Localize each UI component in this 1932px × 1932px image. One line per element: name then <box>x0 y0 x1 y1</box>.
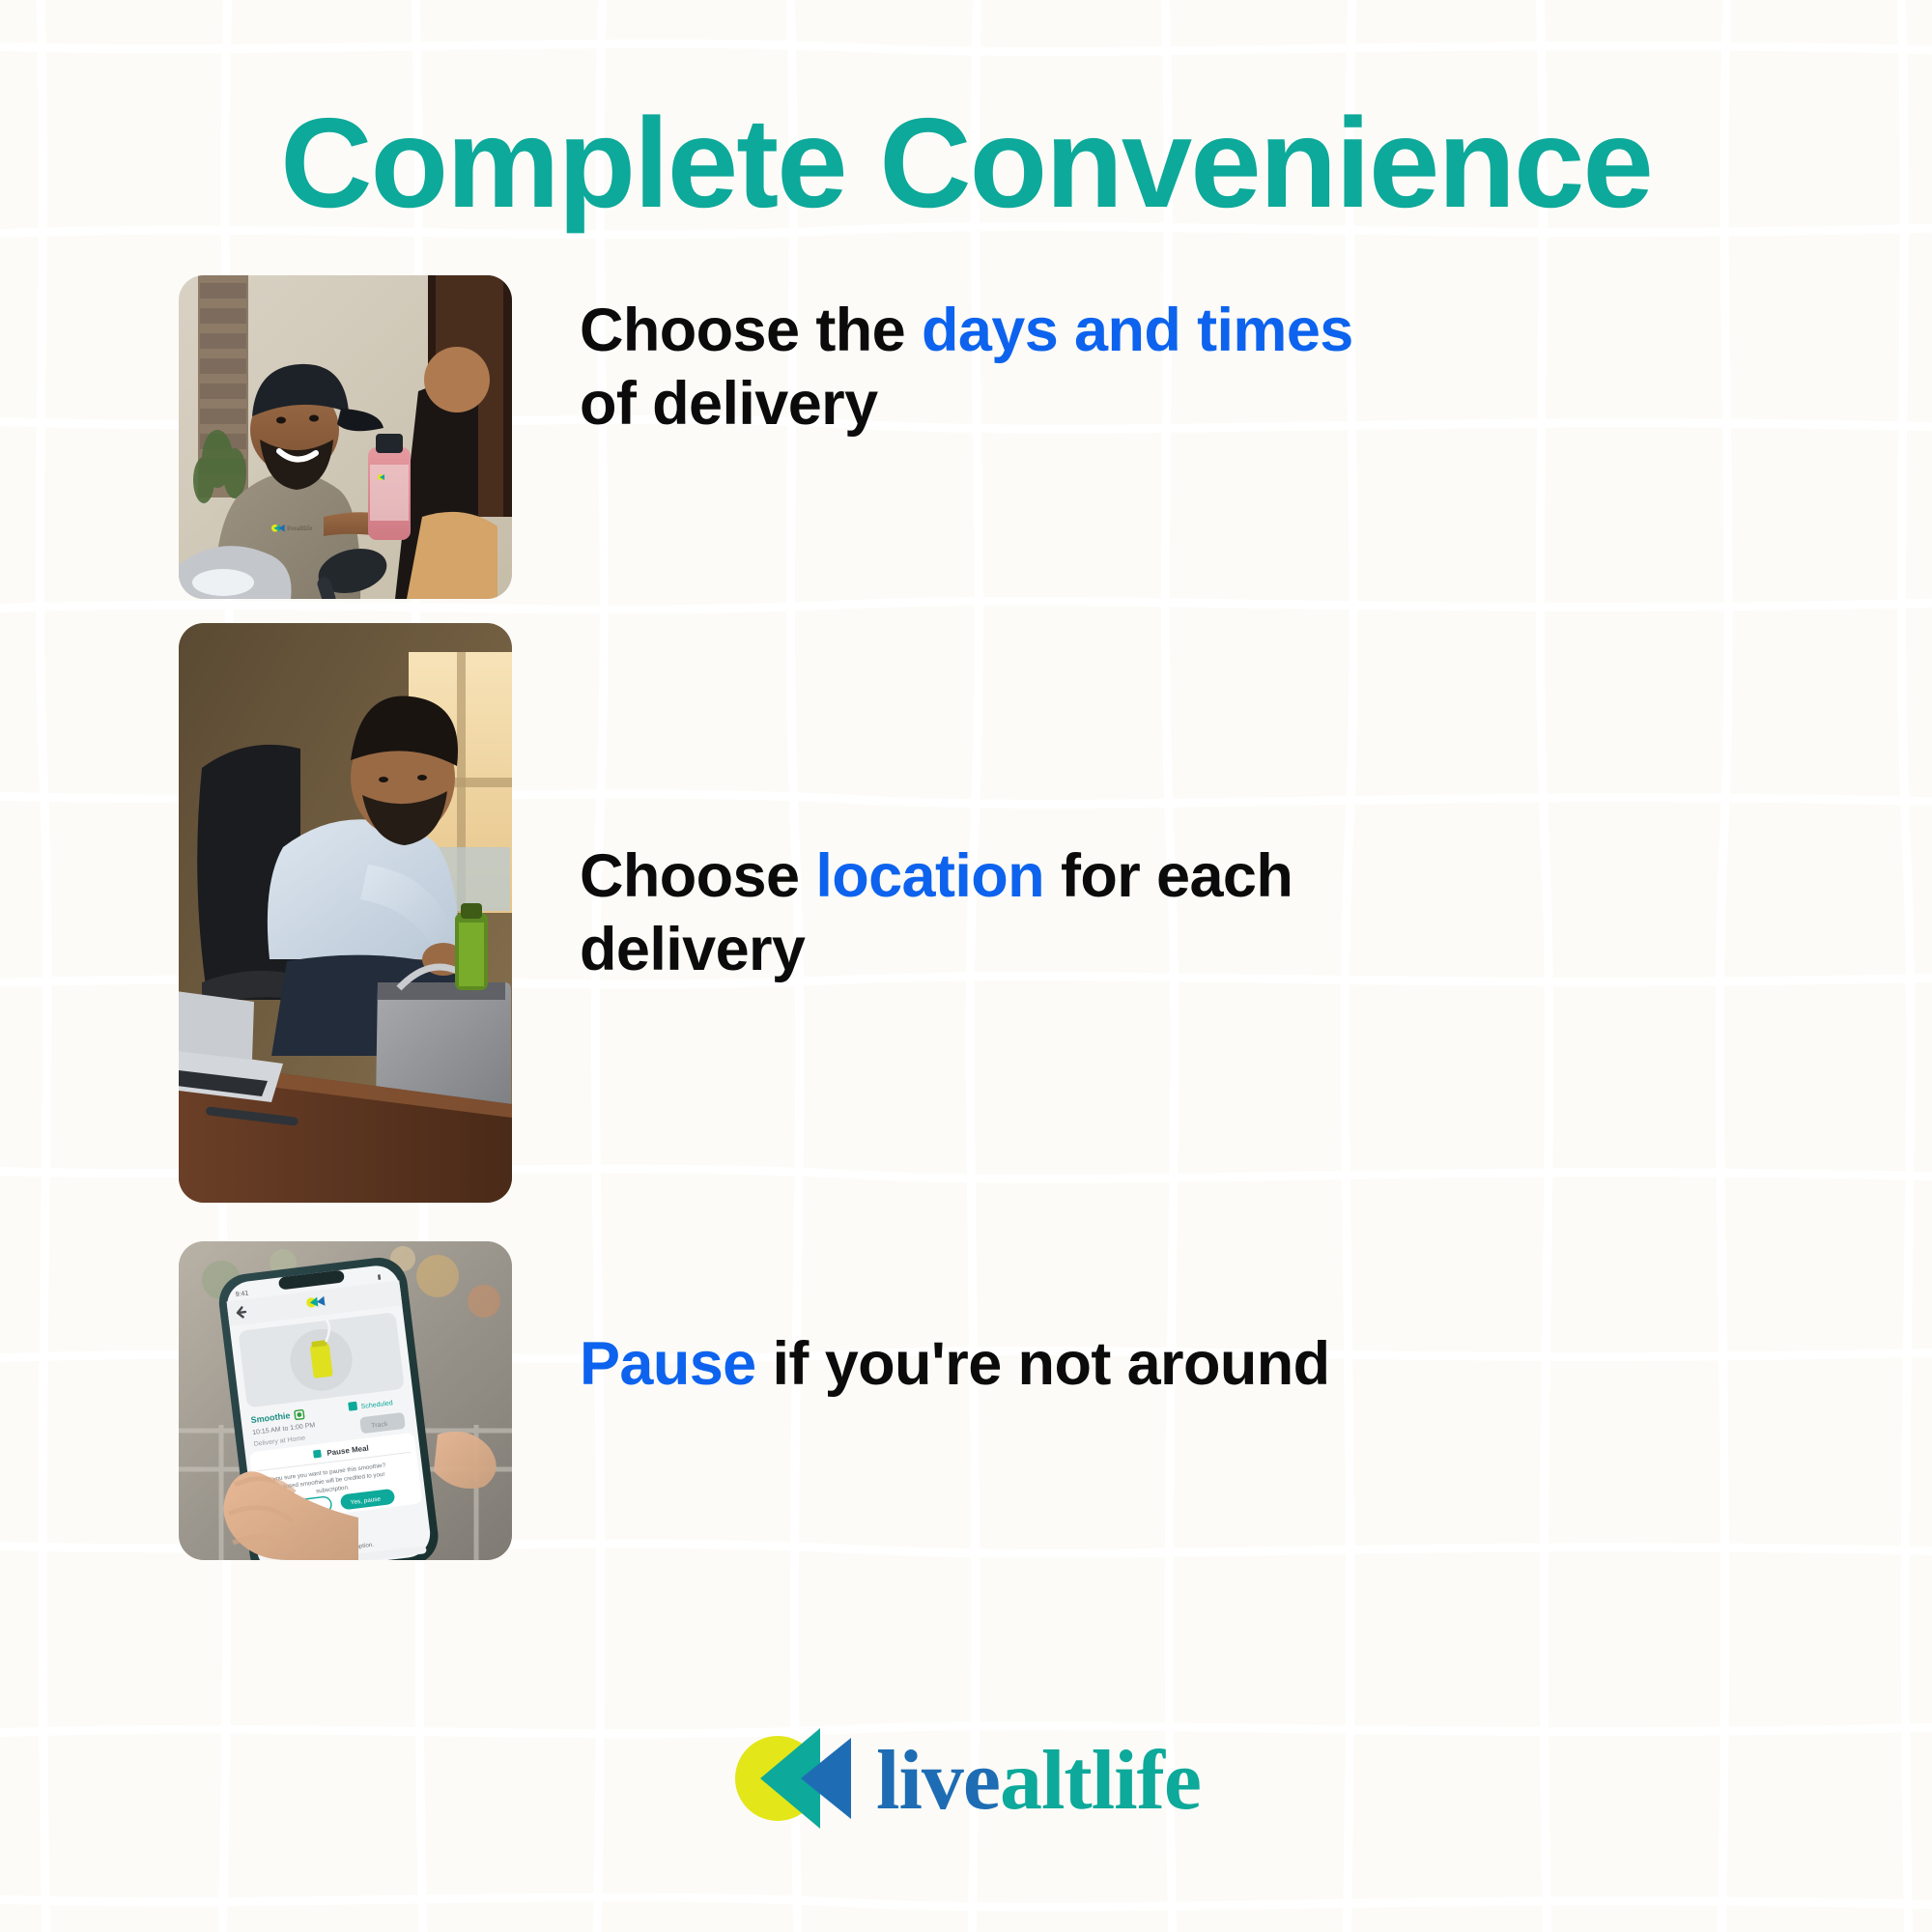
step-row-pause: 9:41 ▮ Sm <box>0 1241 1932 1560</box>
caption-part: if you're not around <box>756 1330 1330 1398</box>
step-caption-pause: Pause if you're not around <box>580 1328 1362 1402</box>
caption-part: Choose <box>580 842 815 910</box>
brand-word-altlife: altlife <box>1000 1734 1201 1828</box>
office-desk-photo <box>179 623 512 1203</box>
caption-part: Choose the <box>580 297 922 364</box>
brand-lockup: livealtlife <box>0 1724 1932 1838</box>
step-row-days-and-times: livealtlife Choose the days <box>0 275 1932 599</box>
delivery-handoff-photo: livealtlife <box>179 275 512 599</box>
caption-highlight: Pause <box>580 1330 756 1398</box>
phone-in-hand-photo: 9:41 ▮ Sm <box>179 1241 512 1560</box>
poster-canvas: Complete Convenience <box>0 0 1932 1932</box>
caption-highlight: location <box>815 842 1044 910</box>
svg-text:livealtlife: livealtlife <box>287 526 312 532</box>
page-title: Complete Convenience <box>0 93 1932 233</box>
step-row-location: Choose location for each delivery <box>0 623 1932 1203</box>
caption-highlight: days and times <box>922 297 1353 364</box>
caption-part: of delivery <box>580 370 878 438</box>
livealtlife-logo-mark <box>731 1724 855 1838</box>
step-caption-days-and-times: Choose the days and times of delivery <box>580 295 1362 440</box>
brand-wordmark: livealtlife <box>876 1739 1201 1824</box>
brand-word-live: live <box>876 1734 1000 1828</box>
step-caption-location: Choose location for each delivery <box>580 840 1362 986</box>
